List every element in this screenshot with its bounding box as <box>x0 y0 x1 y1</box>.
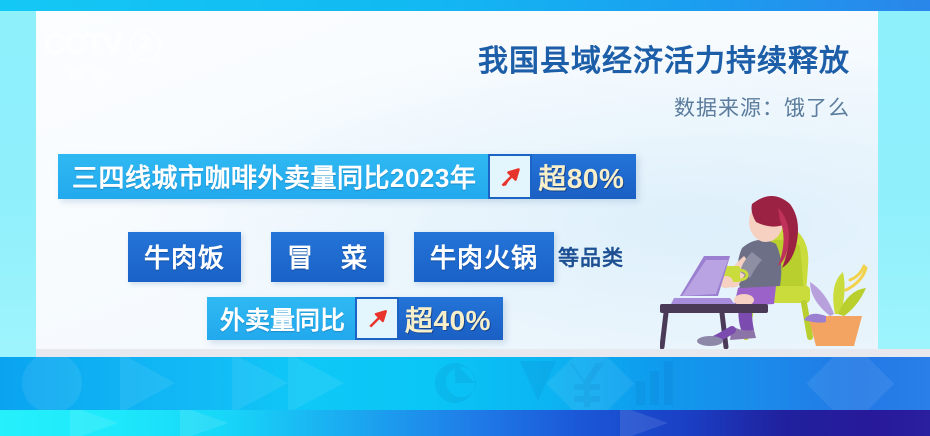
cctv-channel-number: 2 <box>129 29 161 61</box>
bottom-divider-strip <box>0 349 930 357</box>
stat-row-coffee-label: 三四线城市咖啡外卖量同比2023年 <box>58 154 488 199</box>
category-tag: 牛肉饭 <box>128 232 241 282</box>
cctv-logo-mark: CCTV 2 <box>44 28 170 62</box>
stat-row-category-delivery: 外卖量同比 超40% <box>207 297 503 340</box>
category-suffix-label: 等品类 <box>558 242 624 272</box>
top-accent-bar <box>0 0 930 11</box>
up-right-arrow-icon <box>488 154 532 199</box>
cctv-channel-logo: CCTV 2 财经 <box>44 28 170 90</box>
bottom-divider-strip-left <box>0 349 36 357</box>
stat-row-category-label: 外卖量同比 <box>207 297 355 340</box>
page-title: 我国县域经济活力持续释放 <box>330 36 850 80</box>
cctv-channel-name: 财经 <box>70 65 170 84</box>
category-tag-list: 牛肉饭 冒 菜 牛肉火锅 等品类 <box>128 232 624 282</box>
woman-working-laptop-illustration <box>660 178 875 350</box>
broadcast-screen: CCTV 2 财经 我国县域经济活力持续释放 数据来源：饿了么 三四线城市咖啡外… <box>0 0 930 436</box>
bottom-banner <box>0 357 930 410</box>
cctv-logo-text: CCTV <box>44 28 122 62</box>
category-tag: 冒 菜 <box>271 232 384 282</box>
data-source-label: 数据来源：饿了么 <box>430 92 850 122</box>
bottom-footer-strip <box>0 410 930 436</box>
stat-row-coffee-delivery: 三四线城市咖啡外卖量同比2023年 超80% <box>58 154 636 199</box>
category-tag: 牛肉火锅 <box>414 232 554 282</box>
stat-row-coffee-value: 超80% <box>532 154 636 199</box>
up-right-arrow-icon <box>355 297 399 340</box>
stat-row-category-value: 超40% <box>399 297 503 340</box>
